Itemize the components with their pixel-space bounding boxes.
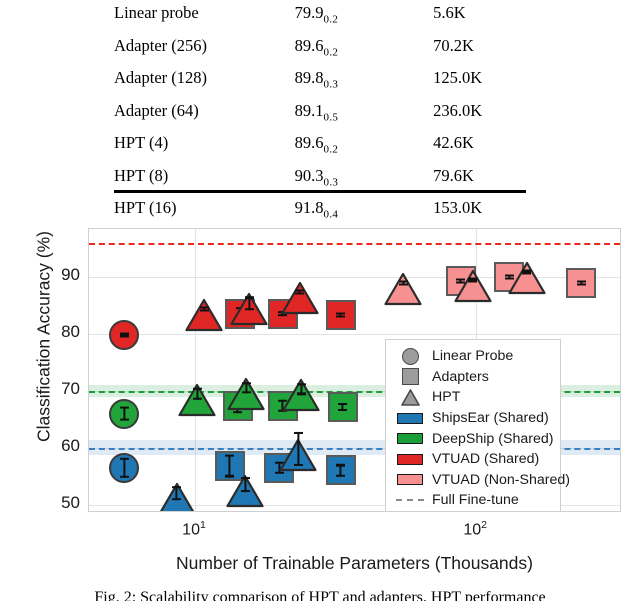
- marker-triangle: [230, 293, 268, 326]
- table-bottom-rule: [114, 190, 526, 193]
- marker-circle: [109, 399, 139, 429]
- accuracy-value: 89.6: [295, 36, 324, 55]
- legend-color-swatch: [397, 454, 423, 465]
- marker-triangle: [282, 379, 320, 412]
- results-table-body: Linear probe79.90.25.6KAdapter (256)89.6…: [114, 0, 526, 228]
- accuracy-value: 89.1: [295, 101, 324, 120]
- legend-key: [394, 389, 426, 406]
- legend-key: [394, 499, 426, 501]
- chart-legend[interactable]: Linear ProbeAdaptersHPTShipsEar (Shared)…: [385, 339, 561, 512]
- legend-circle-icon: [402, 348, 419, 365]
- legend-key: [394, 454, 426, 465]
- table-cell-params: 236.0K: [397, 98, 526, 131]
- legend-item[interactable]: VTUAD (Non-Shared): [394, 470, 552, 491]
- legend-color-swatch: [397, 474, 423, 485]
- accuracy-value: 89.6: [295, 133, 324, 152]
- legend-key: [394, 368, 426, 385]
- legend-label: Adapters: [426, 369, 489, 385]
- marker-square: [326, 455, 356, 485]
- gridline-vertical: [195, 229, 196, 511]
- table-cell-accuracy: 79.90.2: [279, 0, 397, 33]
- table-row: Adapter (64)89.10.5236.0K: [114, 98, 526, 131]
- accuracy-std: 0.2: [324, 46, 339, 58]
- y-tick-label: 50: [40, 493, 80, 513]
- marker-triangle: [227, 378, 265, 411]
- legend-triangle-icon: [401, 389, 420, 406]
- table-row: Adapter (256)89.60.270.2K: [114, 33, 526, 66]
- legend-item[interactable]: Adapters: [394, 367, 552, 388]
- legend-label: ShipsEar (Shared): [426, 410, 549, 426]
- legend-label: Full Fine-tune: [426, 492, 519, 508]
- marker-triangle: [281, 282, 319, 315]
- legend-key: [394, 413, 426, 424]
- table-cell-accuracy: 89.80.3: [279, 65, 397, 98]
- marker-triangle: [178, 383, 216, 416]
- y-tick-label: 60: [40, 436, 80, 456]
- marker-square: [326, 300, 356, 330]
- table-row: HPT (4)89.60.242.6K: [114, 130, 526, 163]
- table-cell-method: Linear probe: [114, 0, 279, 33]
- results-table: Linear probe79.90.25.6KAdapter (256)89.6…: [0, 0, 640, 200]
- table-cell-accuracy: 89.60.2: [279, 33, 397, 66]
- legend-key: [394, 433, 426, 444]
- legend-item[interactable]: Linear Probe: [394, 346, 552, 367]
- legend-item[interactable]: DeepShip (Shared): [394, 428, 552, 449]
- table-cell-accuracy: 89.60.2: [279, 130, 397, 163]
- legend-item[interactable]: HPT: [394, 387, 552, 408]
- plot-area: Linear ProbeAdaptersHPTShipsEar (Shared)…: [88, 228, 621, 512]
- x-tick-label: 101: [159, 519, 229, 539]
- marker-triangle: [185, 299, 223, 332]
- y-tick-label: 90: [40, 265, 80, 285]
- table-cell-params: 42.6K: [397, 130, 526, 163]
- x-tick-label: 102: [440, 519, 510, 539]
- scalability-figure: Classification Accuracy (%) Number of Tr…: [0, 206, 640, 601]
- table-cell-params: 5.6K: [397, 0, 526, 33]
- marker-square: [328, 392, 358, 422]
- table-row: Linear probe79.90.25.6K: [114, 0, 526, 33]
- legend-label: VTUAD (Shared): [426, 451, 539, 467]
- marker-circle: [109, 453, 139, 483]
- marker-triangle: [384, 272, 422, 305]
- legend-color-swatch: [397, 413, 423, 424]
- marker-triangle: [279, 438, 317, 471]
- accuracy-value: 79.9: [295, 3, 324, 22]
- legend-label: Linear Probe: [426, 348, 513, 364]
- legend-key: [394, 348, 426, 365]
- accuracy-value: 90.3: [295, 166, 324, 185]
- table-cell-accuracy: 89.10.5: [279, 98, 397, 131]
- table-cell-params: 70.2K: [397, 33, 526, 66]
- y-tick-label: 70: [40, 379, 80, 399]
- accuracy-std: 0.5: [324, 111, 339, 123]
- marker-triangle: [226, 474, 264, 507]
- marker-triangle: [158, 483, 196, 512]
- legend-item[interactable]: Full Fine-tune: [394, 490, 552, 511]
- legend-item[interactable]: VTUAD (Shared): [394, 449, 552, 470]
- accuracy-std: 0.2: [324, 143, 339, 155]
- legend-dashed-line-icon: [396, 499, 424, 501]
- legend-key: [394, 474, 426, 485]
- accuracy-std: 0.2: [324, 13, 339, 25]
- accuracy-value: 89.8: [295, 68, 324, 87]
- figure-caption: Fig. 2: Scalability comparison of HPT an…: [0, 588, 640, 601]
- y-tick-label: 80: [40, 322, 80, 342]
- legend-color-swatch: [397, 433, 423, 444]
- legend-label: HPT: [426, 389, 460, 405]
- table-cell-method: Adapter (64): [114, 98, 279, 131]
- marker-triangle: [454, 269, 492, 302]
- accuracy-std: 0.3: [324, 78, 339, 90]
- table-cell-method: HPT (4): [114, 130, 279, 163]
- gridline-horizontal: [89, 334, 620, 335]
- table-row: Adapter (128)89.80.3125.0K: [114, 65, 526, 98]
- legend-label: VTUAD (Non-Shared): [426, 472, 570, 488]
- marker-circle: [109, 320, 139, 350]
- x-axis-title: Number of Trainable Parameters (Thousand…: [88, 553, 621, 574]
- reference-line: [89, 243, 620, 245]
- table-cell-method: Adapter (128): [114, 65, 279, 98]
- marker-square: [566, 268, 596, 298]
- marker-triangle: [508, 261, 546, 294]
- legend-label: DeepShip (Shared): [426, 431, 553, 447]
- legend-item[interactable]: ShipsEar (Shared): [394, 408, 552, 429]
- legend-square-icon: [402, 368, 419, 385]
- accuracy-std: 0.3: [324, 176, 339, 188]
- table-cell-method: Adapter (256): [114, 33, 279, 66]
- table-cell-params: 125.0K: [397, 65, 526, 98]
